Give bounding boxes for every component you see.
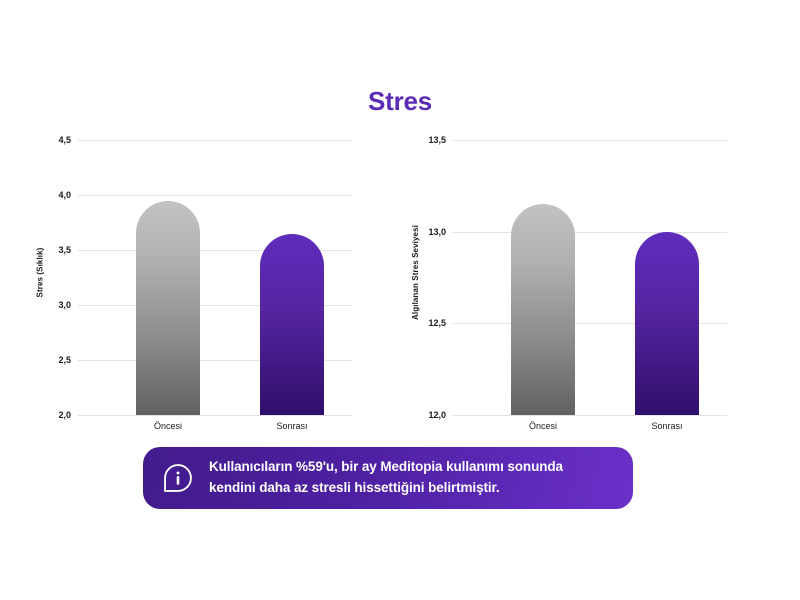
- x-category-label: Öncesi: [136, 421, 200, 431]
- y-axis-title-frequency: Stres (Sıklık): [32, 130, 48, 415]
- bar-sonrasi-perceived: [635, 232, 699, 415]
- y-tick-label: 2,5: [58, 355, 71, 365]
- y-tick-label: 13,0: [428, 227, 446, 237]
- y-tick-label: 3,5: [58, 245, 71, 255]
- chart-perceived: Algılanan Stres Seviyesi 13,5 13,0 12,5 …: [405, 130, 735, 430]
- gridline: 13,0: [453, 232, 727, 233]
- plot-area-perceived: 13,5 13,0 12,5 12,0 Öncesi Sonrası: [453, 140, 727, 415]
- y-tick-label: 4,5: [58, 135, 71, 145]
- info-icon: [163, 463, 193, 493]
- page-title: Stres: [0, 86, 800, 117]
- y-axis-title-frequency-label: Stres (Sıklık): [36, 248, 45, 298]
- y-tick-label: 12,5: [428, 318, 446, 328]
- y-tick-label: 4,0: [58, 190, 71, 200]
- bar-oncesi-frequency: [136, 201, 200, 415]
- gridline: 4,0: [78, 195, 352, 196]
- gridline: 4,5: [78, 140, 352, 141]
- callout-text: Kullanıcıların %59'u, bir ay Meditopia k…: [209, 457, 613, 499]
- y-axis-title-perceived: Algılanan Stres Seviyesi: [407, 130, 423, 415]
- y-axis-title-perceived-label: Algılanan Stres Seviyesi: [411, 225, 420, 320]
- axis-baseline: 2,0: [78, 415, 352, 416]
- x-category-label: Öncesi: [511, 421, 575, 431]
- y-tick-label: 2,0: [58, 410, 71, 420]
- info-callout: Kullanıcıların %59'u, bir ay Meditopia k…: [143, 447, 633, 509]
- x-category-label: Sonrası: [260, 421, 324, 431]
- gridline: 13,5: [453, 140, 727, 141]
- bar-oncesi-perceived: [511, 204, 575, 415]
- axis-baseline: 12,0: [453, 415, 727, 416]
- y-tick-label: 12,0: [428, 410, 446, 420]
- bar-sonrasi-frequency: [260, 234, 324, 415]
- y-tick-label: 13,5: [428, 135, 446, 145]
- y-tick-label: 3,0: [58, 300, 71, 310]
- x-category-label: Sonrası: [635, 421, 699, 431]
- chart-frequency: Stres (Sıklık) 4,5 4,0 3,5 3,0 2,5 2,0 Ö…: [30, 130, 360, 430]
- plot-area-frequency: 4,5 4,0 3,5 3,0 2,5 2,0 Öncesi Sonrası: [78, 140, 352, 415]
